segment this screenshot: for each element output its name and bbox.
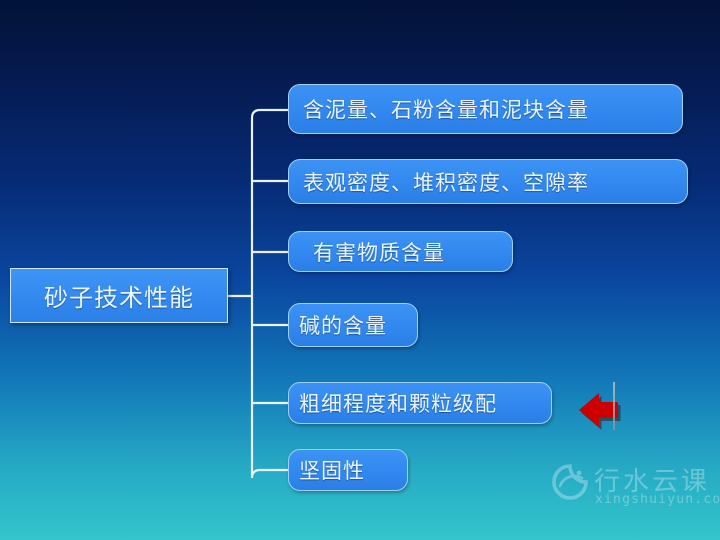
diagram-child-label-1: 含泥量、石粉含量和泥块含量 — [303, 94, 589, 124]
annotation-arrow — [574, 385, 624, 435]
diagram-child-label-4: 碱的含量 — [299, 310, 387, 340]
diagram-child-node-4[interactable]: 碱的含量 — [288, 303, 418, 347]
connector-branch-1 — [252, 110, 288, 296]
diagram-root-node[interactable]: 砂子技术性能 — [10, 268, 228, 323]
text-caret — [613, 382, 615, 430]
diagram-child-node-5[interactable]: 粗细程度和颗粒级配 — [288, 382, 552, 424]
diagram-child-label-5: 粗细程度和颗粒级配 — [299, 388, 497, 418]
diagram-child-label-6: 坚固性 — [299, 455, 365, 485]
diagram-child-node-3[interactable]: 有害物质含量 — [288, 231, 513, 272]
diagram-child-label-2: 表观密度、堆积密度、空隙率 — [303, 167, 589, 197]
connector-branch-6 — [252, 296, 288, 478]
diagram-child-node-6[interactable]: 坚固性 — [288, 449, 408, 491]
diagram-child-node-2[interactable]: 表观密度、堆积密度、空隙率 — [288, 159, 688, 204]
diagram-child-label-3: 有害物质含量 — [313, 237, 445, 267]
diagram-child-node-1[interactable]: 含泥量、石粉含量和泥块含量 — [288, 84, 683, 134]
diagram-root-label: 砂子技术性能 — [44, 278, 194, 313]
presentation-slide: 砂子技术性能 含泥量、石粉含量和泥块含量 表观密度、堆积密度、空隙率 有害物质含… — [0, 0, 720, 540]
